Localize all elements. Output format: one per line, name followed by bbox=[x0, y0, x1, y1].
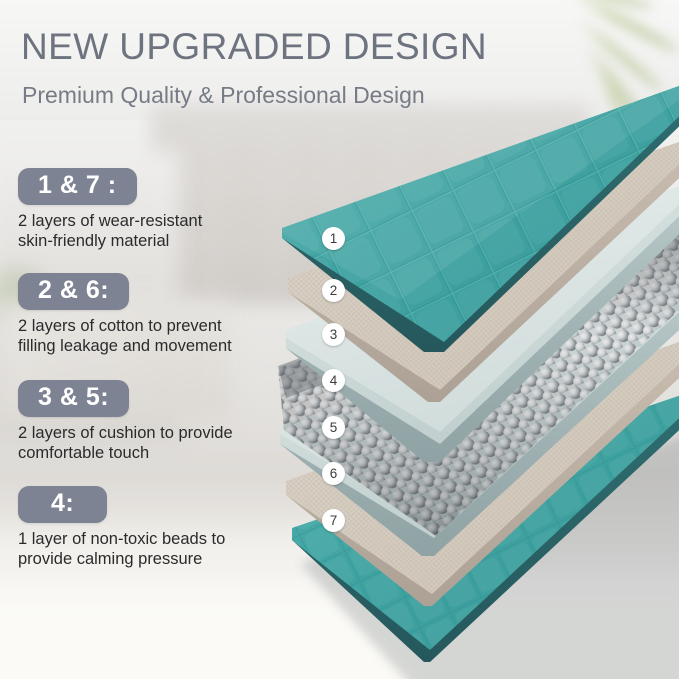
feature-badge-3: 3 & 5: bbox=[18, 380, 129, 417]
feature-badge-1: 1 & 7 : bbox=[18, 168, 137, 205]
feature-block-3: 3 & 5: 2 layers of cushion to provide co… bbox=[18, 380, 233, 463]
feature-description-4: 1 layer of non-toxic beads to provide ca… bbox=[18, 530, 225, 569]
layer-number-7: 7 bbox=[322, 509, 345, 532]
feature-block-2: 2 & 6: 2 layers of cotton to prevent fil… bbox=[18, 273, 232, 356]
layer-number-4: 4 bbox=[322, 369, 345, 392]
feature-badge-2: 2 & 6: bbox=[18, 273, 129, 310]
feature-block-4: 4: 1 layer of non-toxic beads to provide… bbox=[18, 486, 225, 569]
feature-description-1: 2 layers of wear-resistant skin-friendly… bbox=[18, 212, 202, 251]
layer-number-5: 5 bbox=[322, 416, 345, 439]
page-subtitle: Premium Quality & Professional Design bbox=[22, 82, 425, 109]
layer-number-6: 6 bbox=[322, 462, 345, 485]
layer-number-1: 1 bbox=[322, 227, 345, 250]
page-title: NEW UPGRADED DESIGN bbox=[21, 26, 487, 68]
product-infographic: 1 2 3 4 5 6 7 NEW UPGRADED DESIGN Premiu… bbox=[0, 0, 679, 679]
feature-block-1: 1 & 7 : 2 layers of wear-resistant skin-… bbox=[18, 168, 202, 251]
layer-number-3: 3 bbox=[322, 323, 345, 346]
feature-description-3: 2 layers of cushion to provide comfortab… bbox=[18, 424, 233, 463]
layer-number-2: 2 bbox=[322, 279, 345, 302]
feature-description-2: 2 layers of cotton to prevent filling le… bbox=[18, 317, 232, 356]
feature-badge-4: 4: bbox=[18, 486, 107, 523]
